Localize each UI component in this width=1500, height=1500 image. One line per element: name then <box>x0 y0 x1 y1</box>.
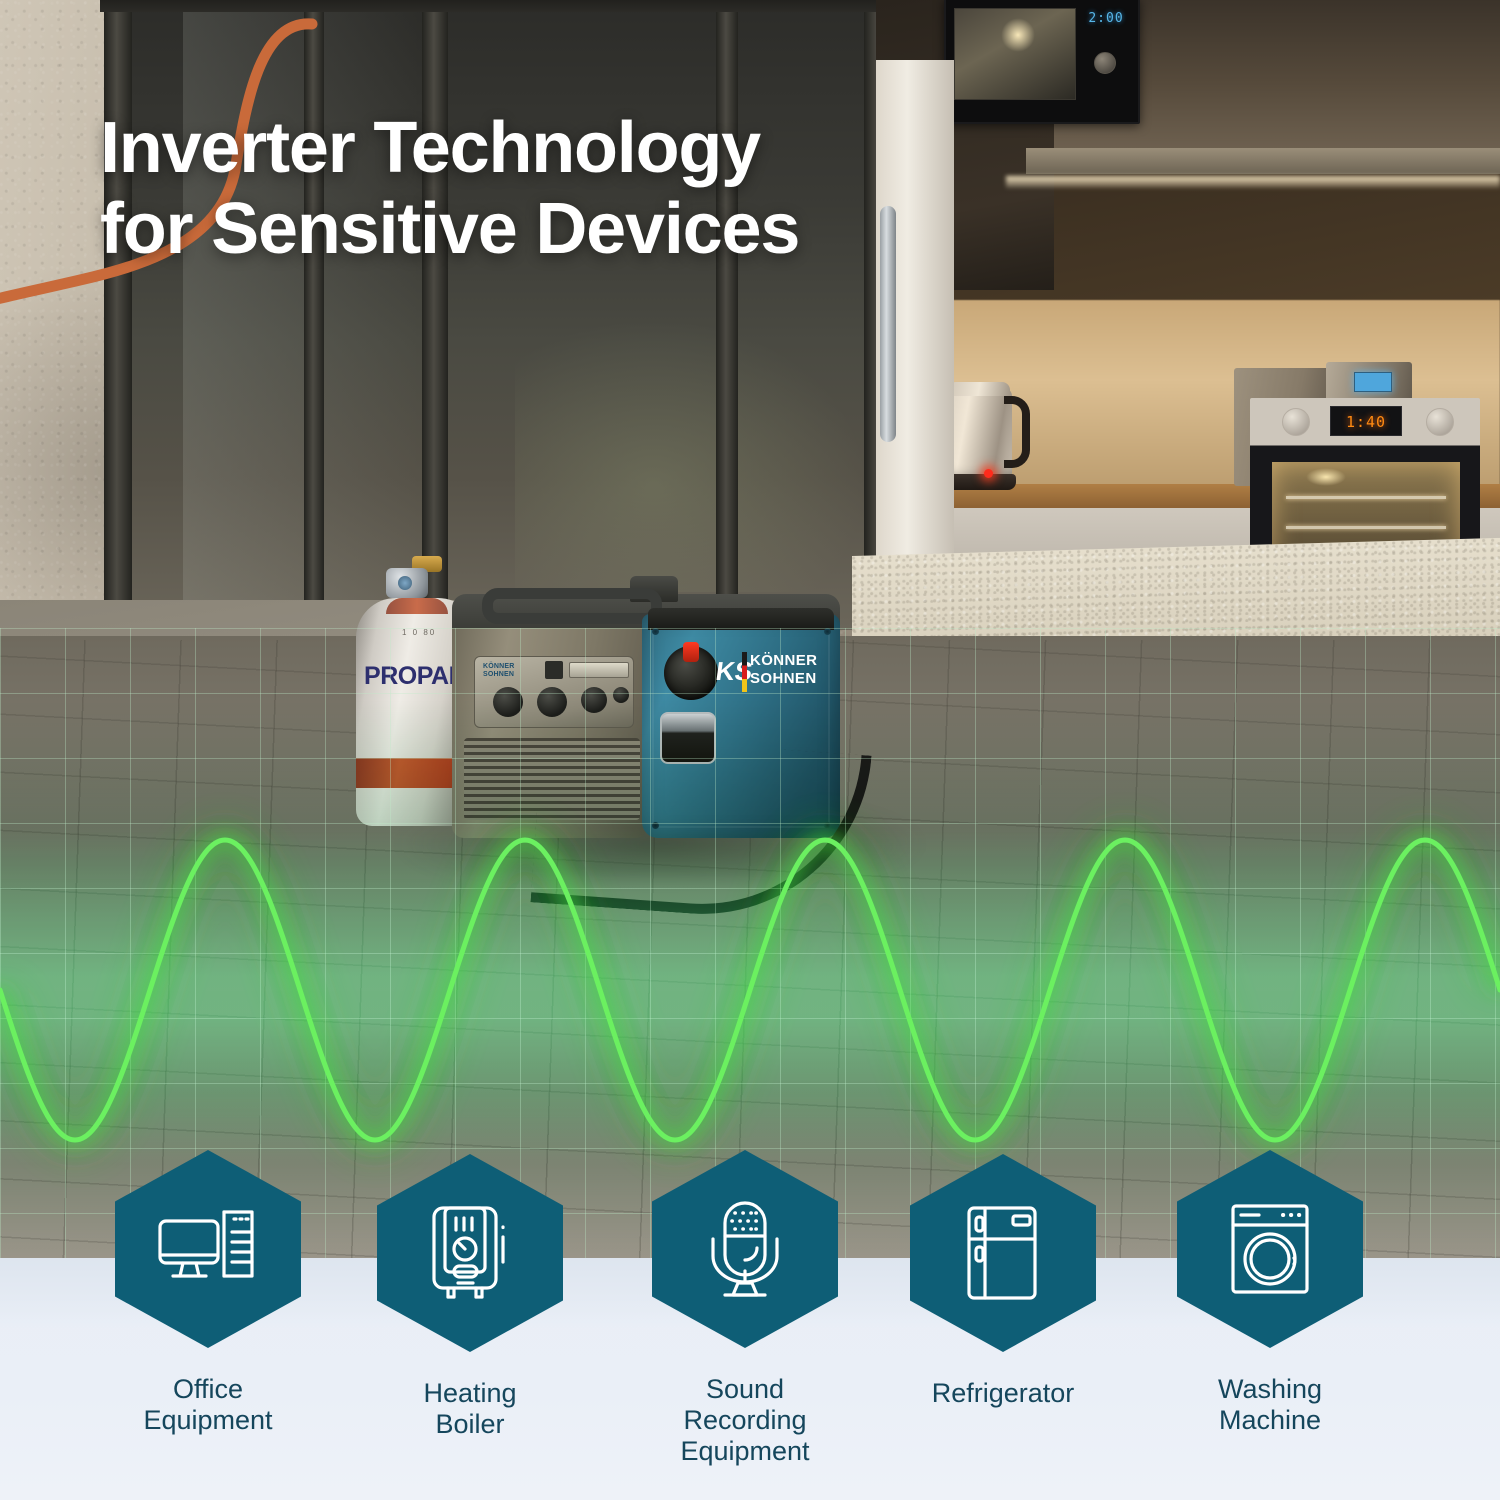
oven-display-value: 1:40 <box>1331 407 1401 437</box>
microwave-display: 2:00 <box>1084 10 1128 28</box>
feature-label-line1: Heating <box>370 1378 570 1409</box>
door-header-trim <box>100 0 900 12</box>
oven-function-knob <box>1282 408 1310 436</box>
feature-item-office-equipment[interactable]: Office Equipment <box>108 1150 308 1436</box>
feature-label-line2: Boiler <box>370 1409 570 1440</box>
heating-boiler-icon <box>428 1204 512 1302</box>
microwave-door-glass <box>954 8 1076 100</box>
feature-item-washing-machine[interactable]: Washing Machine <box>1170 1150 1370 1436</box>
microwave-knob <box>1094 52 1116 74</box>
feature-label: Office Equipment <box>108 1374 308 1436</box>
carry-handle <box>482 588 662 624</box>
kettle-body <box>946 388 1012 484</box>
feature-label-line1: Sound Recording <box>645 1374 845 1436</box>
feature-label-line1: Office <box>108 1374 308 1405</box>
feature-label: Heating Boiler <box>370 1378 570 1440</box>
door-frame-mullion <box>716 0 738 630</box>
oven-display: 1:40 <box>1330 406 1402 436</box>
door-glass-pane <box>104 0 894 630</box>
studio-microphone-icon <box>699 1200 791 1298</box>
desktop-computer-icon <box>156 1204 260 1294</box>
feature-label: Washing Machine <box>1170 1374 1370 1436</box>
feature-item-heating-boiler[interactable]: Heating Boiler <box>370 1154 570 1440</box>
appliance-badge-row: Office Equipment <box>0 1150 1500 1500</box>
feature-label-line1: Refrigerator <box>903 1378 1103 1409</box>
sine-wave-line <box>0 840 1500 1140</box>
feature-label-line2: Equipment <box>645 1436 845 1467</box>
feature-item-sound-recording[interactable]: Sound Recording Equipment <box>645 1150 845 1466</box>
sliding-glass-door <box>104 0 894 630</box>
feature-label-line2: Equipment <box>108 1405 308 1436</box>
hex-badge[interactable] <box>1177 1150 1363 1348</box>
feature-label: Refrigerator <box>903 1378 1103 1409</box>
refrigerator-icon <box>963 1205 1043 1301</box>
feature-label: Sound Recording Equipment <box>645 1374 845 1466</box>
kettle-power-led <box>984 469 993 478</box>
kettle-lid <box>948 382 1010 396</box>
feature-label-line2: Machine <box>1170 1405 1370 1436</box>
oven-lamp <box>1306 468 1346 486</box>
title-line-1: Inverter Technology <box>100 108 1100 189</box>
feature-label-line1: Washing <box>1170 1374 1370 1405</box>
oven-temperature-knob <box>1426 408 1454 436</box>
microwave-oven: 2:00 <box>944 0 1140 124</box>
coffee-machine-display <box>1354 372 1392 392</box>
kitchen-interior: 2:00 <box>876 0 1500 596</box>
infographic-canvas: 2:00 <box>0 0 1500 1500</box>
door-frame-mullion <box>304 0 324 630</box>
hex-badge[interactable] <box>115 1150 301 1348</box>
cylinder-valve-assembly <box>386 556 448 602</box>
feature-item-refrigerator[interactable]: Refrigerator <box>903 1154 1103 1409</box>
kettle-handle <box>1004 396 1030 468</box>
title-line-2: for Sensitive Devices <box>100 189 1100 270</box>
door-frame-mullion <box>422 0 448 630</box>
hex-badge[interactable] <box>910 1154 1096 1352</box>
hex-badge[interactable] <box>377 1154 563 1352</box>
microwave-control-panel: 2:00 <box>1080 8 1132 112</box>
oven-rack <box>1286 496 1446 499</box>
oven-rack <box>1286 526 1446 529</box>
page-title: Inverter Technology for Sensitive Device… <box>100 108 1100 269</box>
washing-machine-icon <box>1227 1203 1313 1295</box>
door-frame-mullion <box>104 0 132 630</box>
hex-badge[interactable] <box>652 1150 838 1348</box>
gas-regulator <box>386 568 428 598</box>
generator-front-recess <box>648 608 834 630</box>
